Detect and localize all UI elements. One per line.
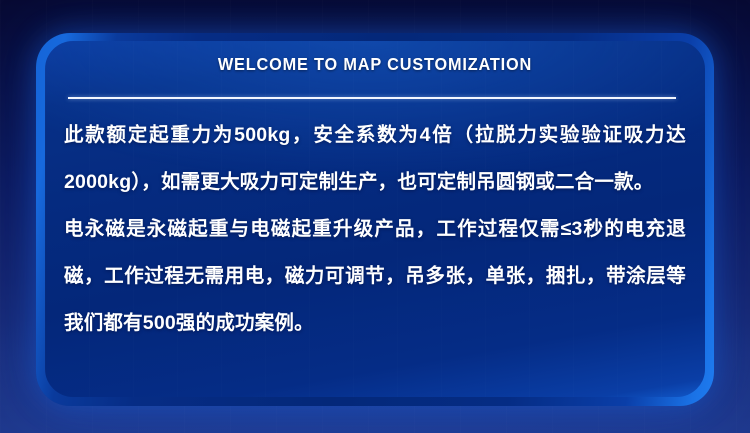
card-title: WELCOME TO MAP CUSTOMIZATION [60,54,691,75]
description-paragraph-1: 此款额定起重力为500kg，安全系数为4倍（拉脱力实验验证吸力达2000kg），… [64,112,686,206]
card-body-text: 此款额定起重力为500kg，安全系数为4倍（拉脱力实验验证吸力达2000kg），… [64,112,686,347]
info-card: WELCOME TO MAP CUSTOMIZATION 此款额定起重力为500… [36,33,714,406]
description-paragraph-2: 电永磁是永磁起重与电磁起重升级产品，工作过程仅需≤3秒的电充退磁，工作过程无需用… [64,206,686,347]
title-divider [68,97,676,99]
banner-screen: WELCOME TO MAP CUSTOMIZATION 此款额定起重力为500… [0,0,750,433]
info-card-content: WELCOME TO MAP CUSTOMIZATION 此款额定起重力为500… [36,33,714,406]
